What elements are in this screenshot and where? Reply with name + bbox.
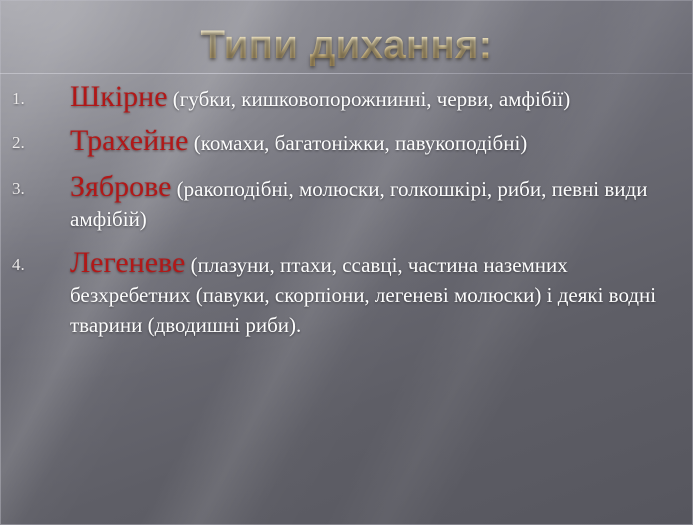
list-item: 1. Шкірне (губки, кишковопорожнинні, чер… xyxy=(0,82,693,114)
breathing-types-list: 1. Шкірне (губки, кишковопорожнинні, чер… xyxy=(0,82,693,340)
list-item-number: 1. xyxy=(12,82,56,116)
list-item-number: 3. xyxy=(12,172,56,206)
list-item-heading: Легеневе xyxy=(70,246,185,279)
title-divider-rule xyxy=(0,73,693,74)
list-item: 3. Зяброве (ракоподібні, молюски, голкош… xyxy=(0,172,693,234)
presentation-slide: Типи дихання: Типи дихання: 1. Шкірне (г… xyxy=(0,0,693,525)
list-item-heading: Зяброве xyxy=(70,170,171,203)
list-item-number: 4. xyxy=(12,248,56,282)
list-item: 4. Легеневе (плазуни, птахи, ссавці, час… xyxy=(0,248,693,340)
list-item-detail: (комахи, багатоніжки, павукоподібні) xyxy=(189,131,528,155)
list-item-heading: Шкірне xyxy=(70,80,168,113)
slide-title: Типи дихання: xyxy=(0,21,693,69)
list-item: 2. Трахейне (комахи, багатоніжки, павуко… xyxy=(0,126,693,158)
list-item-number: 2. xyxy=(12,126,56,160)
list-item-detail: (губки, кишковопорожнинні, черви, амфібі… xyxy=(168,87,571,111)
list-item-heading: Трахейне xyxy=(70,124,189,157)
title-area: Типи дихання: Типи дихання: xyxy=(0,0,693,74)
